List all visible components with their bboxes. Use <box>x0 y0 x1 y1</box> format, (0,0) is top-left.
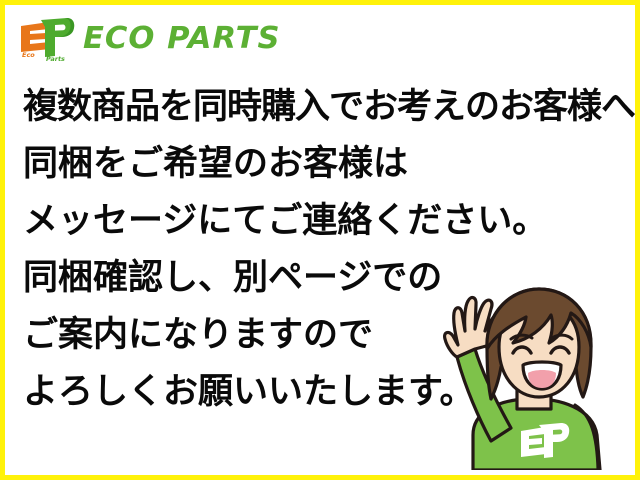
svg-text:Eco: Eco <box>22 51 35 59</box>
message-line-6: よろしくお願いいたします。 <box>23 364 635 421</box>
message-block: 複数商品を同時購入でお考えのお客様へ 同梱をご希望のお客様は メッセージにてご連… <box>23 79 635 421</box>
message-line-3: メッセージにてご連絡ください。 <box>23 193 635 250</box>
brand-wordmark: ECO PARTS <box>83 24 281 54</box>
promo-banner: Eco Parts ECO PARTS 複数商品を同時購入でお考えのお客様へ 同… <box>0 0 640 480</box>
brand-header: Eco Parts ECO PARTS <box>15 13 277 65</box>
message-line-4: 同梱確認し、別ページでの <box>23 250 635 307</box>
message-line-2: 同梱をご希望のお客様は <box>23 136 635 193</box>
eco-parts-logo-icon: Eco Parts <box>15 16 77 62</box>
svg-text:Parts: Parts <box>46 55 65 62</box>
message-line-5: ご案内になりますので <box>23 307 635 364</box>
message-line-1: 複数商品を同時購入でお考えのお客様へ <box>23 79 635 136</box>
